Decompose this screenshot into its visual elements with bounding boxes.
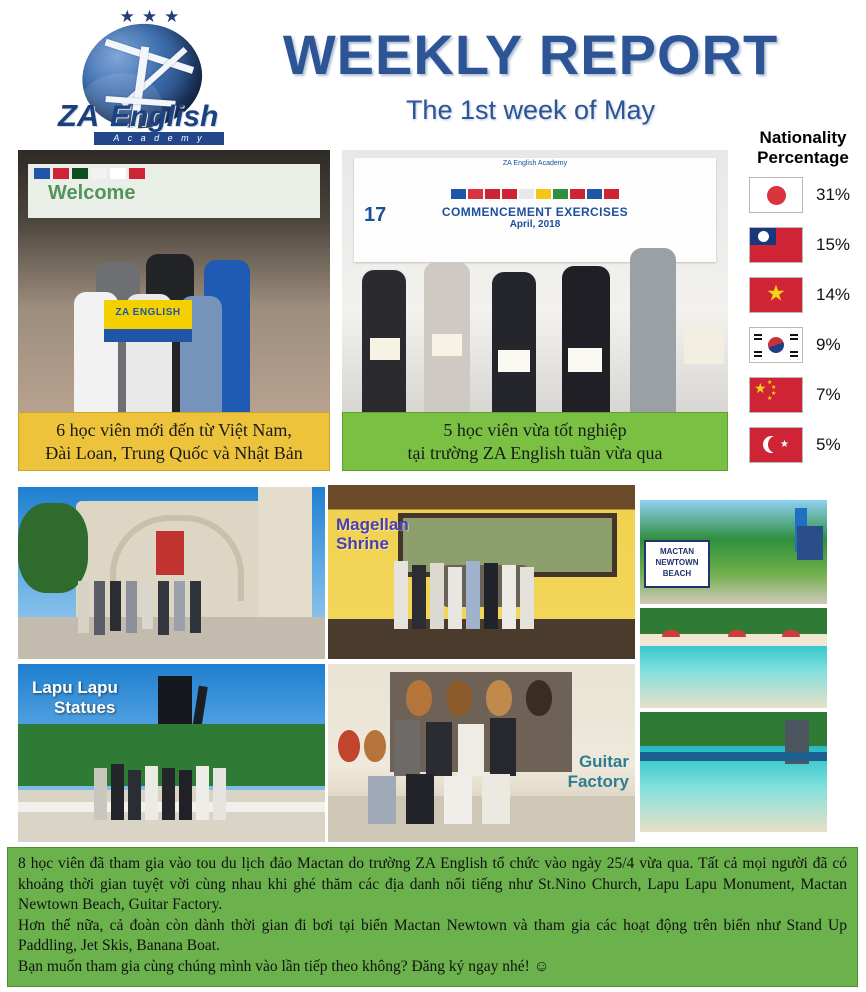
nationality-percentage-panel: Nationality Percentage 31% 15% ★ 14% — [742, 128, 864, 468]
label-line-2: Factory — [568, 772, 629, 792]
page-title: WEEKLY REPORT — [258, 22, 803, 87]
page-subtitle: The 1st week of May — [258, 95, 803, 126]
weekly-report-poster: ★★★ ZA English A c a d e m y WEEKLY REPO… — [0, 0, 866, 992]
flag-taiwan-icon — [750, 228, 802, 262]
label-line-2: Shrine — [336, 534, 409, 553]
summary-text-block: 8 học viên đã tham gia vào tou du lịch đ… — [7, 847, 858, 987]
nationality-row-turkey: ★ 5% — [742, 422, 864, 468]
percent-japan: 31% — [816, 185, 850, 205]
logo-english-text: English — [110, 100, 218, 134]
mactan-newtown-beach-photo: MACTAN NEWTOWN BEACH — [640, 500, 827, 604]
logo-wordmark: ZA English A c a d e m y — [48, 94, 253, 142]
caption-line-2: Đài Loan, Trung Quốc và Nhật Bản — [23, 442, 325, 465]
summary-paragraph-2: Hơn thế nữa, cả đoàn còn dành thời gian … — [18, 916, 847, 957]
label-line-2: Statues — [32, 698, 118, 718]
beach-photo-2 — [640, 712, 827, 832]
flag-south-korea-icon — [750, 328, 802, 362]
sign-line-3: BEACH — [646, 568, 708, 579]
st-nino-church-photo — [18, 487, 325, 659]
za-english-academy-logo: ★★★ ZA English A c a d e m y — [48, 6, 253, 142]
banner-title-text: COMMENCEMENT EXERCISES — [354, 205, 716, 219]
mactan-newtown-beach-sign: MACTAN NEWTOWN BEACH — [644, 540, 710, 588]
commencement-banner: ZA English Academy COMMENCEMENT EXERCISE… — [354, 158, 716, 262]
guitar-factory-label: Guitar Factory — [568, 752, 629, 792]
label-line-1: Lapu Lapu — [32, 678, 118, 698]
banner-academy-text: ZA English Academy — [354, 160, 716, 167]
magellan-shrine-photo: Magellan Shrine — [328, 485, 635, 659]
nationality-row-china: ★ ★ ★ ★ ★ 7% — [742, 372, 864, 418]
flag-vietnam-icon: ★ — [750, 278, 802, 312]
new-students-caption: 6 học viên mới đến từ Việt Nam, Đài Loan… — [18, 412, 330, 471]
percent-china: 7% — [816, 385, 841, 405]
percent-turkey: 5% — [816, 435, 841, 455]
flag-japan-icon — [750, 178, 802, 212]
caption-line-1: 6 học viên mới đến từ Việt Nam, — [23, 419, 325, 442]
label-line-1: Guitar — [568, 752, 629, 772]
new-students-photo: Welcome ZA ENGLISH — [18, 150, 330, 412]
percent-taiwan: 15% — [816, 235, 850, 255]
beach-photo-1 — [640, 608, 827, 708]
logo-za-text: ZA — [58, 98, 99, 134]
percent-vietnam: 14% — [816, 285, 850, 305]
nationality-row-taiwan: 15% — [742, 222, 864, 268]
summary-paragraph-3: Bạn muốn tham gia cùng chúng mình vào lầ… — [18, 957, 847, 978]
za-english-sign: ZA ENGLISH — [104, 300, 192, 342]
flag-china-icon: ★ ★ ★ ★ ★ — [750, 378, 802, 412]
banner-flags — [354, 189, 716, 199]
logo-academy-text: A c a d e m y — [94, 132, 224, 145]
magellan-shrine-label: Magellan Shrine — [336, 515, 409, 553]
nationality-row-vietnam: ★ 14% — [742, 272, 864, 318]
sign-line-1: MACTAN — [646, 546, 708, 557]
sign-line-2: NEWTOWN — [646, 557, 708, 568]
caption-line-2: tại trường ZA English tuần vừa qua — [347, 442, 723, 465]
banner-date-text: April, 2018 — [354, 219, 716, 230]
lapu-lapu-statues-photo: Lapu Lapu Statues — [18, 664, 325, 842]
nationality-row-south-korea: 9% — [742, 322, 864, 368]
flag-turkey-icon: ★ — [750, 428, 802, 462]
header: ★★★ ZA English A c a d e m y WEEKLY REPO… — [0, 0, 866, 148]
graduates-caption: 5 học viên vừa tốt nghiệp tại trường ZA … — [342, 412, 728, 471]
graduates-photo: ZA English Academy COMMENCEMENT EXERCISE… — [342, 150, 728, 412]
label-line-1: Magellan — [336, 515, 409, 534]
banner-ordinal-text: 17 — [364, 204, 386, 227]
percent-south-korea: 9% — [816, 335, 841, 355]
nationality-title-line2: Percentage — [742, 148, 864, 168]
logo-stars-icon: ★★★ — [98, 8, 208, 25]
summary-paragraph-1: 8 học viên đã tham gia vào tou du lịch đ… — [18, 854, 847, 916]
nationality-title-line1: Nationality — [742, 128, 864, 148]
guitar-factory-photo: Guitar Factory — [328, 664, 635, 842]
nationality-row-japan: 31% — [742, 172, 864, 218]
caption-line-1: 5 học viên vừa tốt nghiệp — [347, 419, 723, 442]
lapu-lapu-statues-label: Lapu Lapu Statues — [32, 678, 118, 718]
